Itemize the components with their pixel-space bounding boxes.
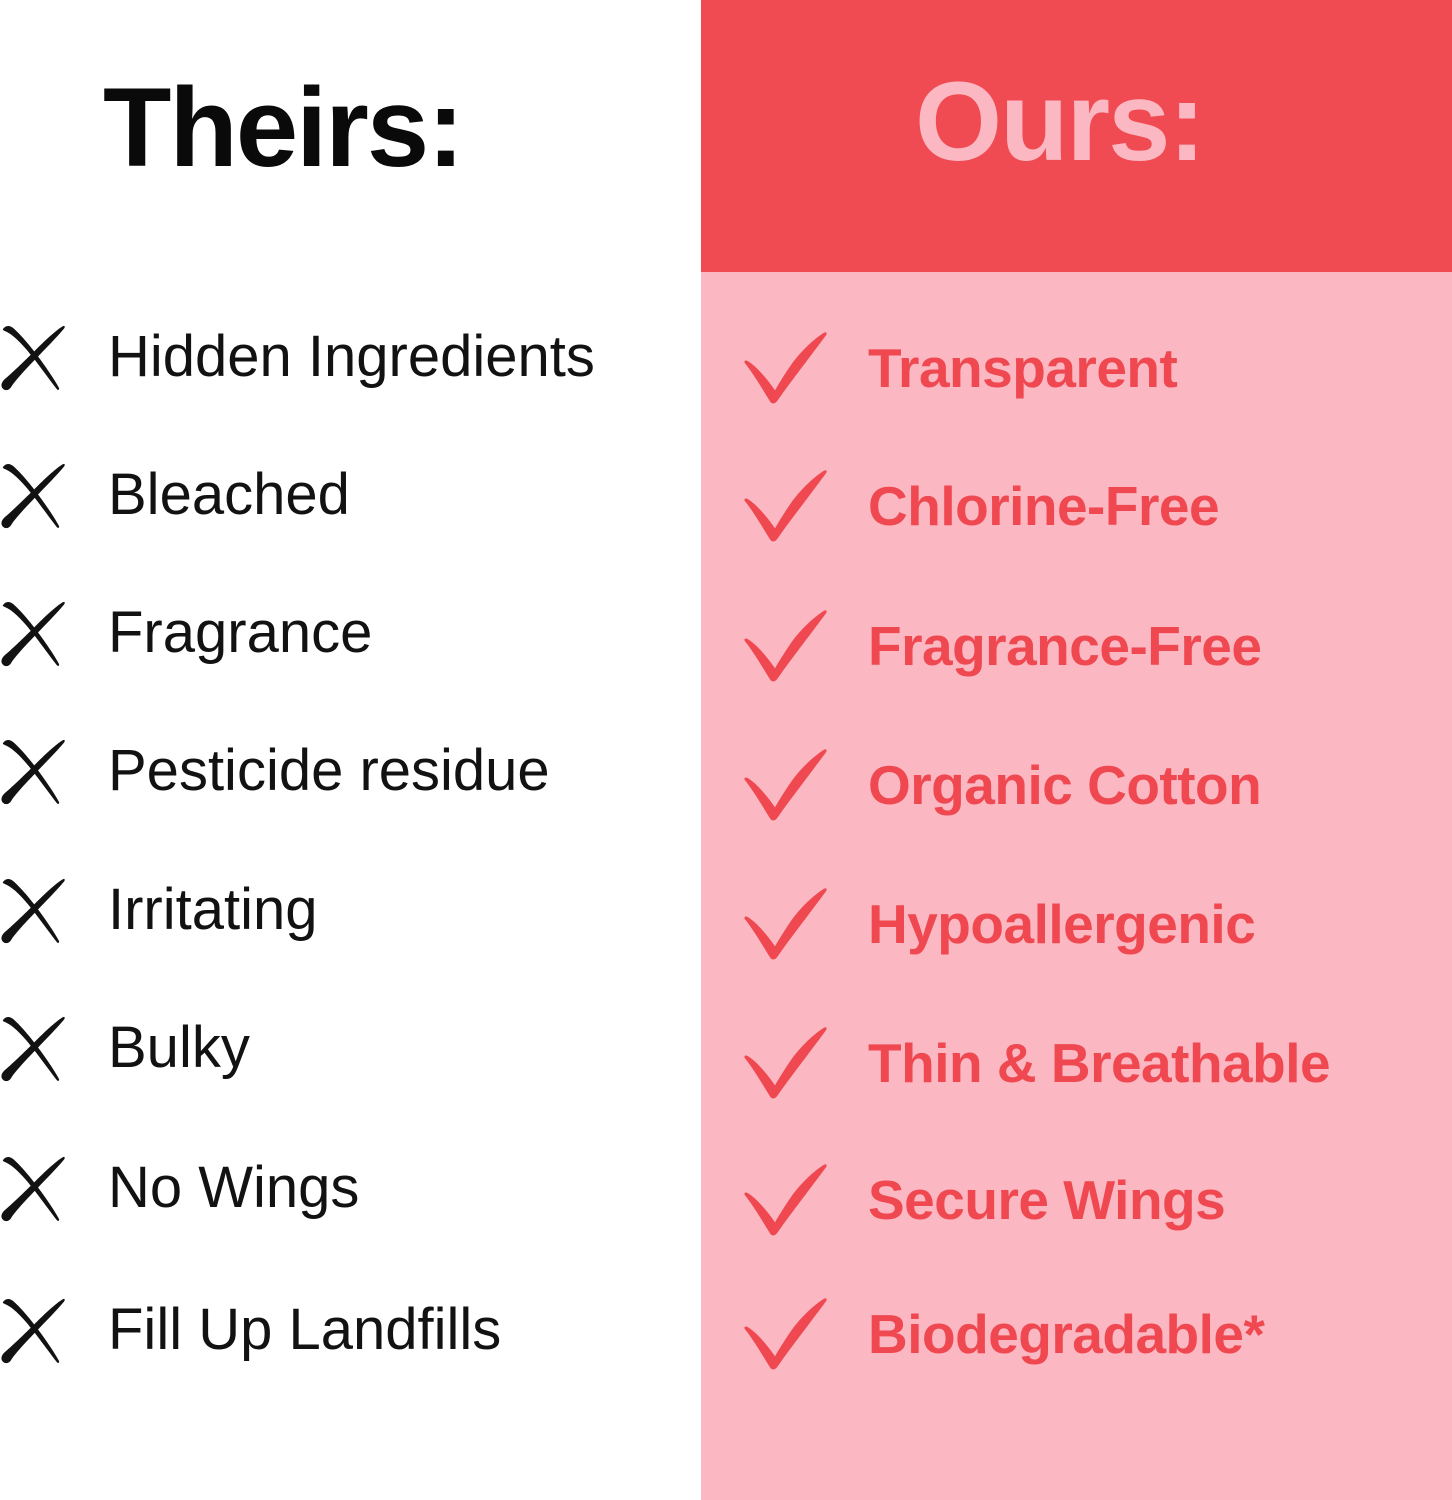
ours-list-item: Biodegradable*: [744, 1291, 1264, 1377]
x-mark-icon: [0, 598, 70, 668]
ours-list-item: Chlorine-Free: [744, 463, 1219, 549]
ours-item-label: Fragrance-Free: [868, 619, 1261, 674]
ours-item-label: Biodegradable*: [868, 1307, 1264, 1362]
x-mark-icon: [0, 322, 70, 392]
ours-list-item: Hypoallergenic: [744, 881, 1255, 967]
theirs-list-item: No Wings: [0, 1145, 359, 1231]
ours-list-item: Thin & Breathable: [744, 1020, 1330, 1106]
x-mark-icon: [0, 1153, 70, 1223]
theirs-item-label: No Wings: [108, 1159, 359, 1217]
theirs-list-item: Fill Up Landfills: [0, 1287, 501, 1373]
theirs-item-label: Fill Up Landfills: [108, 1301, 501, 1359]
check-mark-icon: [744, 748, 828, 822]
comparison-chart: Ours: Theirs: Hidden IngredientsBleached…: [0, 0, 1452, 1500]
check-mark-icon: [744, 887, 828, 961]
x-mark-icon: [0, 1013, 70, 1083]
theirs-list-item: Fragrance: [0, 590, 372, 676]
theirs-list-item: Hidden Ingredients: [0, 314, 595, 400]
ours-item-label: Transparent: [868, 341, 1177, 396]
x-mark-icon: [0, 1295, 70, 1365]
ours-list-item: Transparent: [744, 325, 1177, 411]
theirs-list-item: Irritating: [0, 867, 318, 953]
ours-list-item: Secure Wings: [744, 1157, 1225, 1243]
theirs-list-item: Pesticide residue: [0, 728, 550, 814]
check-mark-icon: [744, 469, 828, 543]
theirs-item-label: Bleached: [108, 466, 350, 524]
ours-item-label: Chlorine-Free: [868, 479, 1219, 534]
theirs-item-label: Bulky: [108, 1019, 250, 1077]
ours-item-label: Secure Wings: [868, 1173, 1225, 1228]
check-mark-icon: [744, 1163, 828, 1237]
x-mark-icon: [0, 875, 70, 945]
ours-item-label: Organic Cotton: [868, 758, 1261, 813]
theirs-item-label: Pesticide residue: [108, 742, 550, 800]
theirs-column-title: Theirs:: [103, 72, 462, 184]
ours-list-item: Fragrance-Free: [744, 603, 1261, 689]
check-mark-icon: [744, 1297, 828, 1371]
check-mark-icon: [744, 1026, 828, 1100]
theirs-list-item: Bleached: [0, 452, 350, 538]
x-mark-icon: [0, 460, 70, 530]
check-mark-icon: [744, 609, 828, 683]
ours-item-label: Hypoallergenic: [868, 897, 1255, 952]
check-mark-icon: [744, 331, 828, 405]
x-mark-icon: [0, 736, 70, 806]
ours-item-label: Thin & Breathable: [868, 1036, 1330, 1091]
ours-column-title: Ours:: [915, 66, 1204, 178]
theirs-item-label: Hidden Ingredients: [108, 328, 595, 386]
theirs-list-item: Bulky: [0, 1005, 250, 1091]
ours-list-item: Organic Cotton: [744, 742, 1261, 828]
theirs-item-label: Irritating: [108, 881, 318, 939]
theirs-item-label: Fragrance: [108, 604, 372, 662]
